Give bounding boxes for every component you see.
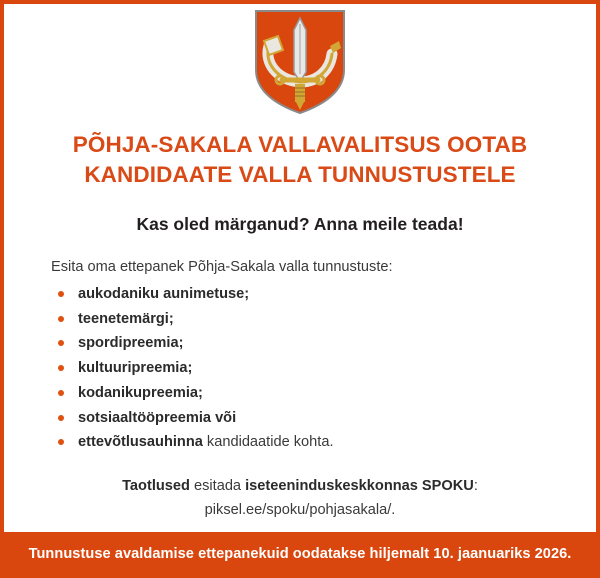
intro-text: Esita oma ettepanek Põhja-Sakala valla t… [51, 258, 596, 277]
award-label: sotsiaaltööpreemia või [78, 410, 236, 426]
spoku-url[interactable]: piksel.ee/spoku/pohjasakala/. [4, 499, 596, 522]
award-tail: kandidaatide kohta. [203, 434, 334, 450]
award-label: teenetemärgi; [78, 311, 174, 327]
list-item: teenetemärgi; [51, 310, 596, 328]
award-label: ettevõtlusauhinna [78, 434, 203, 450]
coat-of-arms-icon [252, 8, 348, 116]
deadline-text: Tunnustuse avaldamise ettepanekuid oodat… [29, 546, 572, 564]
award-label: kodanikupreemia; [78, 385, 203, 401]
bullet-icon [58, 365, 64, 371]
page-title: PÕHJA-SAKALA VALLAVALITSUS OOTAB KANDIDA… [4, 130, 596, 190]
award-list: aukodaniku aunimetuse; teenetemärgi; spo… [51, 285, 596, 452]
list-item: kodanikupreemia; [51, 384, 596, 402]
award-label: kultuuripreemia; [78, 360, 192, 376]
crest-container [4, 4, 596, 116]
deadline-footer-band: Tunnustuse avaldamise ettepanekuid oodat… [0, 532, 600, 578]
bullet-icon [58, 340, 64, 346]
application-info: Taotlused esitada iseteeninduskeskkonnas… [4, 475, 596, 522]
list-item: aukodaniku aunimetuse; [51, 285, 596, 303]
apply-word-reg-1: esitada [190, 478, 245, 494]
apply-word-reg-2: : [474, 478, 478, 494]
bullet-icon [58, 439, 64, 445]
poster-content: PÕHJA-SAKALA VALLAVALITSUS OOTAB KANDIDA… [4, 4, 596, 532]
award-label: aukodaniku aunimetuse; [78, 286, 249, 302]
list-item: kultuuripreemia; [51, 359, 596, 377]
list-item: ettevõtlusauhinna kandidaatide kohta. [51, 433, 596, 451]
list-item: sotsiaaltööpreemia või [51, 409, 596, 427]
page-title-line-1: PÕHJA-SAKALA VALLAVALITSUS OOTAB [4, 130, 596, 160]
page-title-line-2: KANDIDAATE VALLA TUNNUSTUSTELE [4, 160, 596, 190]
bullet-icon [58, 316, 64, 322]
bullet-icon [58, 291, 64, 297]
body-block: Esita oma ettepanek Põhja-Sakala valla t… [4, 258, 596, 452]
announcement-poster: PÕHJA-SAKALA VALLAVALITSUS OOTAB KANDIDA… [0, 0, 600, 578]
apply-word-strong-2: iseteeninduskeskkonnas SPOKU [245, 478, 474, 494]
page-subtitle: Kas oled märganud? Anna meile teada! [4, 213, 596, 236]
list-item: spordipreemia; [51, 334, 596, 352]
bullet-icon [58, 390, 64, 396]
award-label: spordipreemia; [78, 335, 183, 351]
bullet-icon [58, 415, 64, 421]
apply-word-strong-1: Taotlused [122, 478, 190, 494]
